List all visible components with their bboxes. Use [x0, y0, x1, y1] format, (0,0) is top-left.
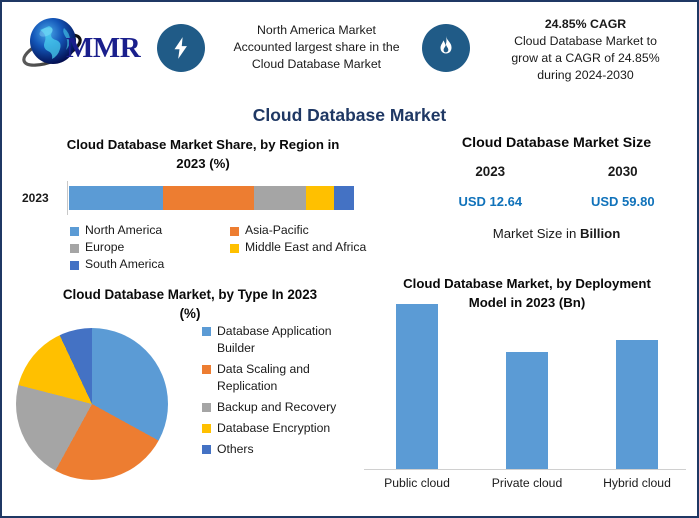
pie-legend-item: Data Scaling and Replication — [202, 361, 367, 395]
region-legend-item: Middle East and Africa — [230, 240, 390, 254]
bar-axis-line — [364, 469, 686, 470]
bar-title-line1: Cloud Database Market, by Deployment — [372, 274, 682, 293]
type-share-chart: Cloud Database Market, by Type In 2023 (… — [12, 285, 372, 323]
pie-legend-label: Others — [217, 441, 254, 458]
header-stat-cagr: 24.85% CAGR Cloud Database Market to gro… — [478, 16, 693, 84]
region-share-chart: Cloud Database Market Share, by Region i… — [18, 135, 388, 173]
legend-swatch-icon — [230, 244, 239, 253]
region-bar-segment — [163, 186, 254, 210]
market-size-unit-prefix: Market Size in — [493, 226, 580, 241]
region-legend-label: Asia-Pacific — [245, 223, 309, 237]
stat1-line1: North America Market — [214, 22, 419, 39]
legend-swatch-icon — [202, 424, 211, 433]
page-title: Cloud Database Market — [2, 105, 697, 126]
region-legend-item: North America — [70, 223, 230, 237]
stat1-line2: Accounted largest share in the — [214, 39, 419, 56]
pie-legend-item: Others — [202, 441, 367, 458]
lightning-bolt-icon — [157, 24, 205, 72]
region-title-line2: 2023 (%) — [28, 154, 378, 173]
region-title-line1: Cloud Database Market Share, by Region i… — [28, 135, 378, 154]
region-stacked-bar — [69, 186, 354, 210]
bar-column — [506, 352, 548, 469]
legend-swatch-icon — [70, 261, 79, 270]
region-bar-segment — [254, 186, 305, 210]
region-legend-label: South America — [85, 257, 164, 271]
stat2-line3: during 2024-2030 — [478, 67, 693, 84]
pie-legend-item: Database Application Builder — [202, 323, 367, 357]
region-legend-item: South America — [70, 257, 230, 271]
brand-name: MMR — [66, 32, 140, 65]
bar-plot-area — [362, 304, 692, 469]
region-bar-segment — [306, 186, 335, 210]
legend-swatch-icon — [230, 227, 239, 236]
stat1-line3: Cloud Database Market — [214, 56, 419, 73]
region-category-label: 2023 — [22, 191, 49, 205]
pie-legend-label: Database Application Builder — [217, 323, 367, 357]
header-band: MMR North America Market Accounted large… — [2, 2, 697, 97]
stat2-line2: grow at a CAGR of 24.85% — [478, 50, 693, 67]
region-legend-label: North America — [85, 223, 162, 237]
bar-category-label: Private cloud — [472, 476, 582, 490]
market-size-years: 2023 2030 — [424, 163, 689, 181]
region-legend: North AmericaAsia-PacificEuropeMiddle Ea… — [70, 223, 390, 274]
legend-swatch-icon — [70, 244, 79, 253]
pie-chart-title: Cloud Database Market, by Type In 2023 (… — [20, 285, 360, 323]
market-size-value-start: USD 12.64 — [458, 194, 522, 209]
pie-legend: Database Application BuilderData Scaling… — [202, 323, 367, 462]
pie-title-line2: (%) — [20, 304, 360, 323]
pie-legend-label: Backup and Recovery — [217, 399, 336, 416]
cagr-headline: 24.85% CAGR — [478, 16, 693, 33]
market-size-title: Cloud Database Market Size — [424, 135, 689, 151]
flame-icon — [422, 24, 470, 72]
pie-legend-label: Database Encryption — [217, 420, 330, 437]
pie-chart-graphic — [16, 328, 168, 480]
legend-swatch-icon — [202, 403, 211, 412]
header-stat-north-america: North America Market Accounted largest s… — [214, 22, 419, 73]
region-axis-line — [67, 181, 68, 215]
legend-swatch-icon — [202, 327, 211, 336]
region-legend-label: Middle East and Africa — [245, 240, 366, 254]
bar-column — [616, 340, 658, 469]
market-size-year-end: 2030 — [608, 164, 638, 179]
legend-swatch-icon — [202, 445, 211, 454]
pie-legend-label: Data Scaling and Replication — [217, 361, 367, 395]
infographic-root: MMR North America Market Accounted large… — [0, 0, 699, 518]
pie-title-line1: Cloud Database Market, by Type In 2023 — [20, 285, 360, 304]
region-plot-area: 2023 — [18, 181, 388, 223]
region-legend-item: Asia-Pacific — [230, 223, 390, 237]
market-size-year-start: 2023 — [475, 164, 505, 179]
bar-category-label: Hybrid cloud — [582, 476, 692, 490]
region-legend-label: Europe — [85, 240, 124, 254]
market-size-value-end: USD 59.80 — [591, 194, 655, 209]
region-bar-segment — [334, 186, 354, 210]
bar-category-labels: Public cloudPrivate cloudHybrid cloud — [362, 476, 692, 490]
legend-swatch-icon — [70, 227, 79, 236]
market-size-unit: Billion — [580, 226, 620, 241]
bar-column — [396, 304, 438, 469]
stat2-line1: Cloud Database Market to — [478, 33, 693, 50]
legend-swatch-icon — [202, 365, 211, 374]
region-legend-item: Europe — [70, 240, 230, 254]
pie-legend-item: Backup and Recovery — [202, 399, 367, 416]
brand-logo: MMR — [14, 10, 149, 86]
market-size-values: USD 12.64 USD 59.80 — [424, 193, 689, 211]
pie-legend-item: Database Encryption — [202, 420, 367, 437]
market-size-unit-note: Market Size in Billion — [424, 226, 689, 241]
region-chart-title: Cloud Database Market Share, by Region i… — [28, 135, 378, 173]
market-size-panel: Cloud Database Market Size 2023 2030 USD… — [424, 135, 689, 241]
bar-category-label: Public cloud — [362, 476, 472, 490]
deployment-model-chart: Cloud Database Market, by Deployment Mod… — [362, 274, 692, 514]
region-bar-segment — [69, 186, 163, 210]
